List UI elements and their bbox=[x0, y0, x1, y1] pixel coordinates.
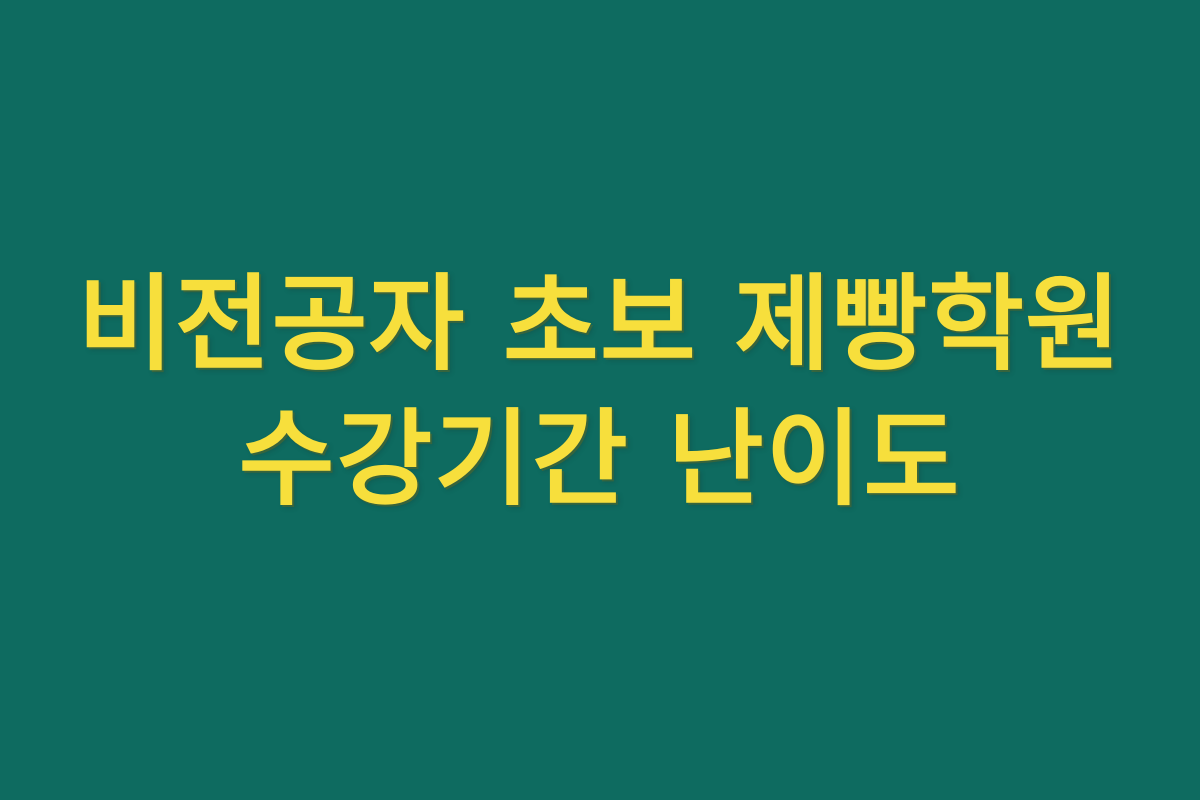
title-block: 비전공자 초보 제빵학원 수강기간 난이도 bbox=[0, 257, 1200, 527]
title-line-2: 수강기간 난이도 bbox=[0, 392, 1200, 527]
thumbnail-canvas: 비전공자 초보 제빵학원 수강기간 난이도 bbox=[0, 0, 1200, 800]
title-line-1: 비전공자 초보 제빵학원 bbox=[0, 257, 1200, 392]
